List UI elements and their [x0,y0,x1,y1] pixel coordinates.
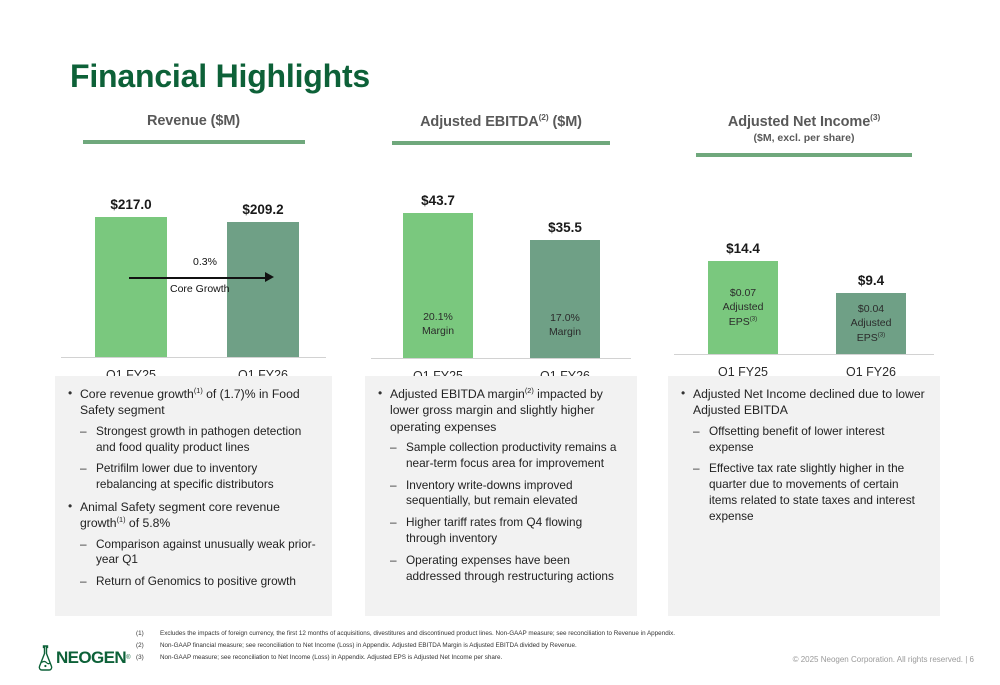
bullet-list-ebitda: Adjusted EBITDA margin(2) impacted by lo… [375,386,625,584]
bar-value-net-income-q1fy25: $14.4 [726,241,760,256]
footnote-number: (3) [136,652,160,664]
chart-net-income-subtitle: ($M, excl. per share) [668,132,940,144]
bar-inner-ebitda-q1fy25: 20.1% Margin [422,310,454,338]
chart-revenue-header: Revenue ($M) [55,112,332,144]
bullet-text-post: of 5.8% [126,516,171,530]
bar-ebitda-q1fy25: $43.7 20.1% Margin [403,213,473,358]
bar-ebitda-q1fy26: $35.5 17.0% Margin [530,240,600,358]
footnote-text: Non-GAAP financial measure; see reconcil… [160,640,836,652]
eps-label-superscript-q1fy25: (3) [750,315,757,322]
sub-bullet-item: Offsetting benefit of lower interest exp… [693,424,928,456]
chart-revenue-baseline [61,357,326,358]
growth-arrow-head-icon [265,272,274,282]
chart-ebitda-header: Adjusted EBITDA(2) ($M) [365,112,637,145]
bullet-panel-revenue: Core revenue growth(1) of (1.7)% in Food… [55,376,332,616]
eps-amount-q1fy26: $0.04 [851,302,892,316]
bar-value-ebitda-q1fy25: $43.7 [421,193,455,208]
slide-canvas: Financial Highlights Revenue ($M) $217.0… [0,0,1000,685]
eps-adjusted-word-q1fy25: Adjusted [723,300,764,314]
chart-ebitda-title-text: Adjusted EBITDA [420,114,539,130]
bar-value-net-income-q1fy26: $9.4 [858,273,884,288]
sub-bullet-item: Strongest growth in pathogen detection a… [80,424,320,456]
chart-net-income-baseline [674,354,934,355]
bullet-text: Animal Safety segment core revenue growt… [80,499,320,532]
bullet-text: Core revenue growth(1) of (1.7)% in Food… [80,386,320,419]
chart-revenue-plot: $217.0 $209.2 0.3% Core Growth [55,158,332,358]
chart-ebitda-title: Adjusted EBITDA(2) ($M) [365,112,637,131]
bar-inner-net-income-q1fy25: $0.07 Adjusted EPS(3) [723,286,764,329]
footnote-row: (3) Non-GAAP measure; see reconciliation… [136,652,836,664]
footnote-text: Non-GAAP measure; see reconciliation to … [160,652,836,664]
bar-value-revenue-q1fy26: $209.2 [242,202,283,217]
bullet-text: Adjusted Net Income declined due to lowe… [693,386,928,419]
footnote-row: (1) Excludes the impacts of foreign curr… [136,628,836,640]
chart-ebitda-rule [392,141,610,145]
eps-adjusted-word-q1fy26: Adjusted [851,316,892,330]
ebitda-margin-word-q1fy26: Margin [549,325,581,339]
eps-label-q1fy25: EPS(3) [723,315,764,329]
bullet-superscript: (1) [194,386,203,395]
bullet-list-revenue: Core revenue growth(1) of (1.7)% in Food… [65,386,320,590]
copyright-notice: © 2025 Neogen Corporation. All rights re… [793,655,974,664]
growth-caption-label: Core Growth [170,283,230,295]
sub-bullet-list: Strongest growth in pathogen detection a… [80,424,320,493]
chart-ebitda-title-tail: ($M) [549,114,582,130]
sub-bullet-item: Higher tariff rates from Q4 flowing thro… [390,515,625,547]
ebitda-margin-word-q1fy25: Margin [422,324,454,338]
bullet-panel-net-income: Adjusted Net Income declined due to lowe… [668,376,940,616]
bullet-panel-ebitda: Adjusted EBITDA margin(2) impacted by lo… [365,376,637,616]
footnote-number: (1) [136,628,160,640]
bullet-text-pre: Core revenue growth [80,387,194,401]
bullet-text-pre: Adjusted EBITDA margin [390,387,525,401]
growth-percent-label: 0.3% [193,256,217,268]
core-growth-annotation: 0.3% Core Growth [55,254,332,302]
bullet-superscript: (2) [525,386,534,395]
bullet-list-net-income: Adjusted Net Income declined due to lowe… [678,386,928,525]
sub-bullet-list: Comparison against unusually weak prior-… [80,537,320,590]
ebitda-margin-pct-q1fy26: 17.0% [549,311,581,325]
bar-inner-ebitda-q1fy26: 17.0% Margin [549,311,581,339]
ebitda-margin-pct-q1fy25: 20.1% [422,310,454,324]
sub-bullet-item: Sample collection productivity remains a… [390,440,625,472]
chart-ebitda-title-superscript: (2) [539,112,549,122]
bullet-text: Adjusted EBITDA margin(2) impacted by lo… [390,386,625,435]
sub-bullet-list: Offsetting benefit of lower interest exp… [693,424,928,525]
sub-bullet-item: Return of Genomics to positive growth [80,574,320,590]
neogen-flask-icon [36,645,55,671]
chart-net-income-title: Adjusted Net Income(3) [668,112,940,131]
footnote-number: (2) [136,640,160,652]
sub-bullet-item: Inventory write-downs improved sequentia… [390,478,625,510]
neogen-logo: NEOGEN ® [36,645,131,671]
chart-ebitda-plot: $43.7 20.1% Margin $35.5 17.0% Margin [365,159,637,359]
chart-revenue-rule [83,140,305,144]
chart-adjusted-net-income: Adjusted Net Income(3) ($M, excl. per sh… [668,112,940,387]
chart-net-income-title-superscript: (3) [870,112,880,122]
page-title: Financial Highlights [70,58,370,95]
chart-net-income-plot: $14.4 $0.07 Adjusted EPS(3) $9.4 $0.04 A… [668,171,940,355]
eps-label-superscript-q1fy26: (3) [878,331,885,338]
chart-net-income-rule [696,153,912,157]
sub-bullet-list: Sample collection productivity remains a… [390,440,625,584]
bar-inner-net-income-q1fy26: $0.04 Adjusted EPS(3) [851,302,892,345]
footnote-row: (2) Non-GAAP financial measure; see reco… [136,640,836,652]
bullet-item: Animal Safety segment core revenue growt… [65,499,320,590]
sub-bullet-item: Comparison against unusually weak prior-… [80,537,320,569]
bar-net-income-q1fy25: $14.4 $0.07 Adjusted EPS(3) [708,261,778,354]
chart-net-income-header: Adjusted Net Income(3) ($M, excl. per sh… [668,112,940,157]
bullet-item: Adjusted EBITDA margin(2) impacted by lo… [375,386,625,584]
bar-net-income-q1fy26: $9.4 $0.04 Adjusted EPS(3) [836,293,906,354]
chart-net-income-title-text: Adjusted Net Income [728,114,870,130]
bullet-superscript: (1) [117,515,126,524]
eps-label-text-q1fy26: EPS [857,332,878,344]
sub-bullet-item: Petrifilm lower due to inventory rebalan… [80,461,320,493]
bullet-item: Adjusted Net Income declined due to lowe… [678,386,928,525]
chart-revenue: Revenue ($M) $217.0 $209.2 0.3% Core Gro… [55,112,332,390]
eps-label-text-q1fy25: EPS [729,316,750,328]
registered-trademark-icon: ® [126,655,130,661]
eps-amount-q1fy25: $0.07 [723,286,764,300]
bar-value-ebitda-q1fy26: $35.5 [548,220,582,235]
neogen-wordmark: NEOGEN [56,648,126,668]
eps-label-q1fy26: EPS(3) [851,331,892,345]
sub-bullet-item: Effective tax rate slightly higher in th… [693,461,928,524]
growth-arrow-line [129,277,269,279]
footnotes: (1) Excludes the impacts of foreign curr… [136,628,836,664]
bullet-item: Core revenue growth(1) of (1.7)% in Food… [65,386,320,493]
chart-revenue-title: Revenue ($M) [55,112,332,130]
bar-value-revenue-q1fy25: $217.0 [110,197,151,212]
chart-adjusted-ebitda: Adjusted EBITDA(2) ($M) $43.7 20.1% Marg… [365,112,637,391]
bullet-text-pre: Adjusted Net Income declined due to lowe… [693,387,925,417]
chart-ebitda-baseline [371,358,631,359]
sub-bullet-item: Operating expenses have been addressed t… [390,553,625,585]
footnote-text: Excludes the impacts of foreign currency… [160,628,836,640]
bullet-text-pre: Animal Safety segment core revenue growt… [80,500,280,530]
